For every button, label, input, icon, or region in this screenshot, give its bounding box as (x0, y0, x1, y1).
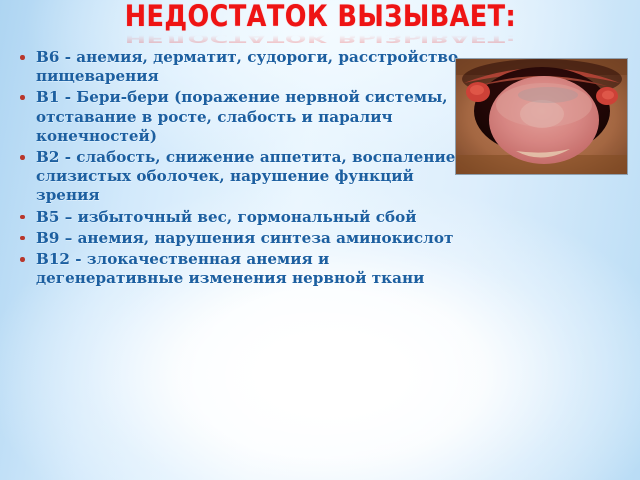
mouth-tongue-illustration (456, 59, 627, 174)
list-item: B12 - злокачественная анемия и дегенерат… (12, 250, 464, 288)
list-item: B9 – анемия, нарушения синтеза аминокисл… (12, 229, 464, 248)
mouth-tongue-photo (455, 58, 628, 175)
bullet-list-container: B6 - анемия, дерматит, судороги, расстро… (12, 48, 464, 290)
bullet-list: B6 - анемия, дерматит, судороги, расстро… (12, 48, 464, 288)
list-item: B1 - Бери-бери (поражение нервной систем… (12, 88, 464, 146)
list-item: B2 - слабость, снижение аппетита, воспал… (12, 148, 464, 206)
list-item: B5 – избыточный вес, гормональный сбой (12, 208, 464, 227)
list-item: B6 - анемия, дерматит, судороги, расстро… (12, 48, 464, 86)
slide: НЕДОСТАТОК ВЫЗЫВАЕТ: НЕДОСТАТОК ВЫЗЫВАЕТ… (0, 0, 640, 480)
page-title-reflection: НЕДОСТАТОК ВЫЗЫВАЕТ: (124, 32, 515, 44)
page-title: НЕДОСТАТОК ВЫЗЫВАЕТ: (124, 2, 515, 31)
